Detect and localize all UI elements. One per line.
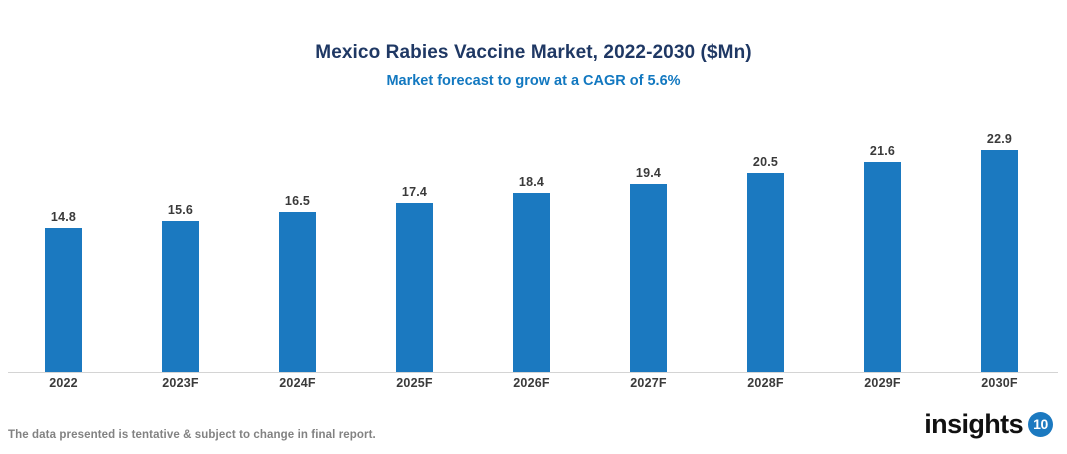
logo-badge-icon: 10 — [1028, 412, 1053, 437]
x-tick-label-2022: 2022 — [5, 376, 122, 390]
bar-2023F[interactable] — [162, 221, 199, 372]
insights10-logo: insights 10 — [924, 410, 1053, 438]
chart-title-block: Mexico Rabies Vaccine Market, 2022-2030 … — [0, 41, 1067, 91]
bar-slot: 19.4 — [590, 110, 707, 372]
bar-2027F[interactable] — [630, 184, 667, 372]
plot-area: 14.815.616.517.418.419.420.521.622.9 — [0, 110, 1067, 373]
bar-value-label: 21.6 — [824, 144, 941, 158]
x-tick-label-2026F: 2026F — [473, 376, 590, 390]
bar-series: 14.815.616.517.418.419.420.521.622.9 — [0, 110, 1067, 372]
chart-subtitle: Market forecast to grow at a CAGR of 5.6… — [0, 71, 1067, 91]
x-tick-label-2030F: 2030F — [941, 376, 1058, 390]
bar-2022[interactable] — [45, 228, 82, 372]
logo-wordmark: insights — [924, 410, 1023, 438]
disclaimer-text: The data presented is tentative & subjec… — [8, 429, 376, 441]
bar-value-label: 17.4 — [356, 185, 473, 199]
bar-value-label: 19.4 — [590, 166, 707, 180]
chart-container: Mexico Rabies Vaccine Market, 2022-2030 … — [0, 0, 1067, 454]
bar-value-label: 20.5 — [707, 155, 824, 169]
bar-2025F[interactable] — [396, 203, 433, 372]
x-tick-label-2029F: 2029F — [824, 376, 941, 390]
bar-slot: 15.6 — [122, 110, 239, 372]
bar-slot: 17.4 — [356, 110, 473, 372]
x-tick-label-2028F: 2028F — [707, 376, 824, 390]
x-axis-categories: 20222023F2024F2025F2026F2027F2028F2029F2… — [0, 376, 1067, 396]
x-axis-line — [8, 372, 1058, 373]
bar-2030F[interactable] — [981, 150, 1018, 372]
x-tick-label-2023F: 2023F — [122, 376, 239, 390]
bar-slot: 21.6 — [824, 110, 941, 372]
bar-value-label: 14.8 — [5, 210, 122, 224]
bar-slot: 14.8 — [5, 110, 122, 372]
bar-value-label: 22.9 — [941, 132, 1058, 146]
x-tick-label-2024F: 2024F — [239, 376, 356, 390]
bar-2024F[interactable] — [279, 212, 316, 372]
bar-slot: 22.9 — [941, 110, 1058, 372]
bar-value-label: 18.4 — [473, 175, 590, 189]
bar-slot: 16.5 — [239, 110, 356, 372]
bar-2028F[interactable] — [747, 173, 784, 372]
chart-title: Mexico Rabies Vaccine Market, 2022-2030 … — [0, 41, 1067, 65]
bar-slot: 20.5 — [707, 110, 824, 372]
bar-2029F[interactable] — [864, 162, 901, 372]
x-tick-label-2027F: 2027F — [590, 376, 707, 390]
bar-value-label: 16.5 — [239, 194, 356, 208]
bar-value-label: 15.6 — [122, 203, 239, 217]
bar-slot: 18.4 — [473, 110, 590, 372]
x-tick-label-2025F: 2025F — [356, 376, 473, 390]
bar-2026F[interactable] — [513, 193, 550, 372]
